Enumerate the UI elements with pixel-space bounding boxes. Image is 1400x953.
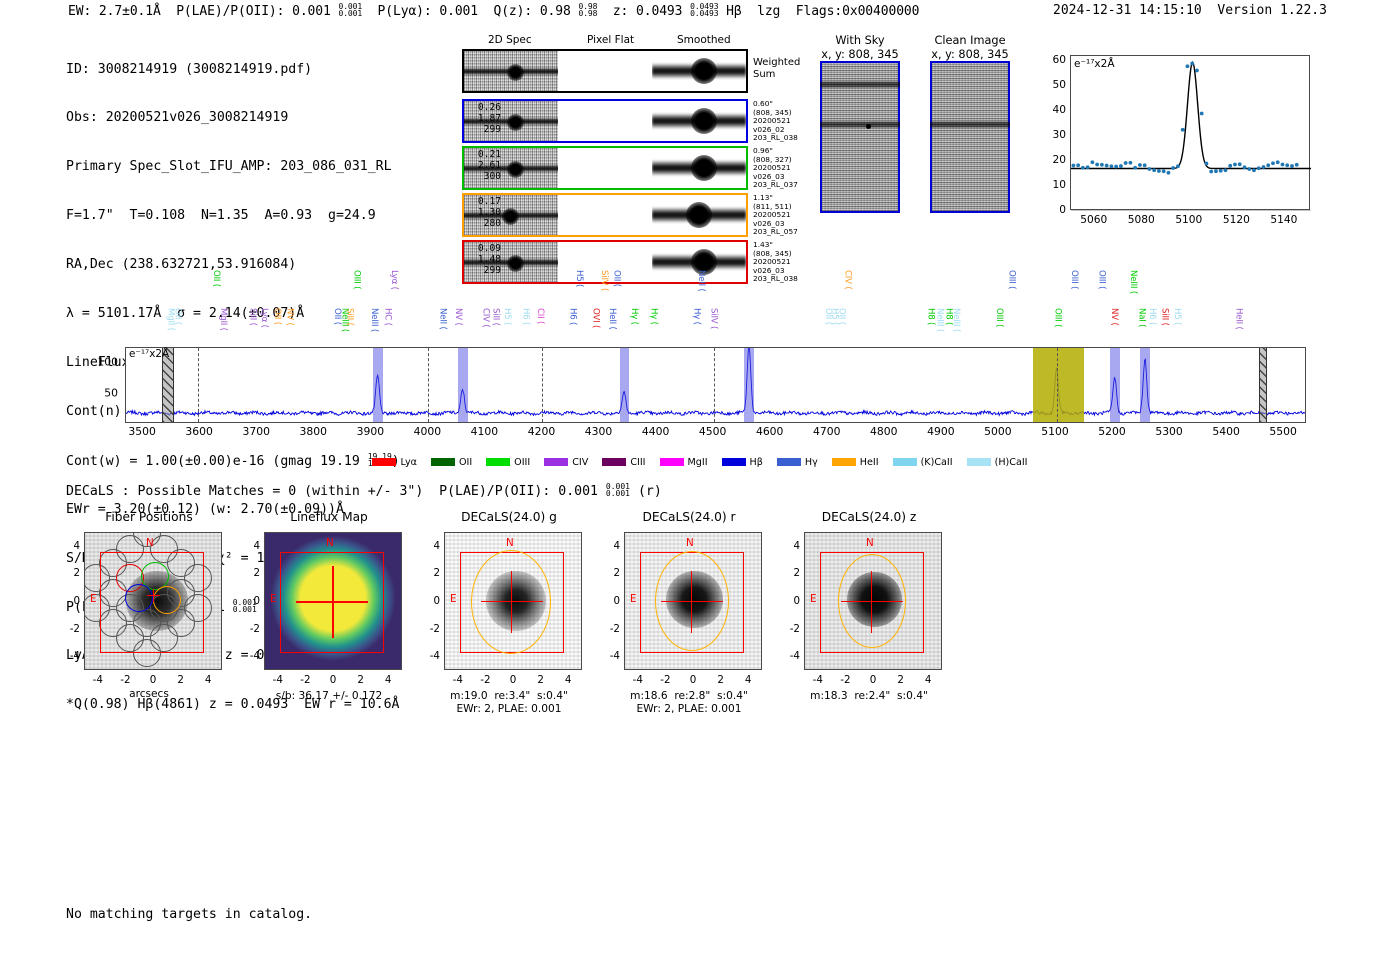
- panel-ytick: -2: [416, 623, 440, 635]
- spectrum-xtick: 5300: [1155, 425, 1182, 438]
- emission-line-label: SiII (: [248, 308, 258, 346]
- east-indicator: E: [810, 593, 817, 605]
- legend-swatch: [722, 458, 746, 466]
- spec2d-row: 0.26 1.87 299 0.60" (808, 345) 20200521 …: [462, 99, 792, 143]
- panel-ytick: 0: [416, 595, 440, 607]
- full-spectrum-chart: MgII (OII (OII (MgII (SiII (Lyα (OII (NV…: [0, 262, 1400, 462]
- spectrum-ytick: 100: [97, 356, 118, 369]
- legend-swatch: [486, 458, 510, 466]
- line-profile-ytick: 40: [1036, 104, 1066, 116]
- line-profile-xtick: 5080: [1128, 214, 1155, 226]
- emission-line-label: H6 (: [520, 308, 530, 346]
- legend-swatch: [602, 458, 626, 466]
- emission-line-label: OII (: [612, 270, 622, 342]
- spec2d-row-meta: 0.96" (808, 327) 20200521 v026_03 203_RL…: [753, 147, 798, 190]
- line-profile-xtick: 5060: [1080, 214, 1107, 226]
- panel-caption: m:18.6 re:2.8" s:0.4" EWr: 2, PLAE: 0.00…: [596, 690, 782, 716]
- spectrum-highlight-band: [620, 348, 630, 422]
- spectrum-xtick: 4400: [642, 425, 669, 438]
- panel-fiber-positions: Fiber Positions: [56, 510, 242, 703]
- cell-smoothed: [652, 148, 746, 188]
- panel-ytick: -4: [776, 650, 800, 662]
- line-profile-svg: [1071, 56, 1311, 211]
- emission-line-label: Hγ (: [649, 308, 659, 346]
- full-spectrum-exponent: e⁻¹⁷x2Å: [129, 348, 169, 360]
- line-profile-ytick: 60: [1036, 54, 1066, 66]
- emission-line-label: SiII (: [1159, 308, 1169, 346]
- cell-pixelflat: [558, 51, 652, 91]
- emission-line-label: NeII (: [438, 308, 448, 346]
- emission-line-label: CII (: [535, 308, 545, 346]
- legend-item: OIII: [486, 457, 530, 468]
- panel-decals-r: DECaLS(24.0) r N E -4-4-2-2002244 m:18.6…: [596, 510, 782, 703]
- legend-item: (H)CaII: [967, 457, 1028, 468]
- panel-axes: N E -4-4-2-2002244 m:18.3 re:2.4" s:0.4": [776, 528, 962, 703]
- east-indicator: E: [270, 593, 277, 605]
- spec2d-column-titles: 2D Spec Pixel Flat Smoothed: [462, 34, 792, 47]
- panel-decals-g: DECaLS(24.0) g N E -4-4-2-2002244 m:19.0…: [416, 510, 602, 703]
- legend-label: Hγ: [805, 457, 818, 468]
- spec2d-montage: 2D Spec Pixel Flat Smoothed Weighted Sum…: [462, 34, 792, 287]
- decals-plae-errors: 0.0010.001: [606, 483, 630, 497]
- emission-line-label: SiII (: [491, 308, 501, 346]
- panel-xtick: 4: [205, 674, 212, 686]
- panel-xtick: -2: [480, 674, 490, 686]
- emission-line-label: NaI (: [1137, 308, 1147, 346]
- legend-swatch: [777, 458, 801, 466]
- panel-xtick: -2: [300, 674, 310, 686]
- emission-line-label: NeIII (: [369, 308, 379, 346]
- header-z-errors: 0.04930.0493: [690, 3, 718, 17]
- panel-xtick: 0: [150, 674, 157, 686]
- panel-xtick: -4: [813, 674, 823, 686]
- full-spectrum-plot-area: [125, 347, 1306, 423]
- panel-caption-line1: m:18.6 re:2.8" s:0.4": [596, 690, 782, 703]
- emission-line-label: OIII (: [351, 270, 361, 342]
- spectrum-xtick: 4000: [414, 425, 441, 438]
- header-qz: Q(z): 0.98: [493, 4, 570, 19]
- cutout-with-sky: With Sky x, y: 808, 345: [820, 34, 900, 213]
- legend-swatch: [544, 458, 568, 466]
- panel-ytick: 0: [236, 595, 260, 607]
- spectrum-highlight-band: [458, 348, 468, 422]
- panel-image: N E: [804, 532, 942, 670]
- emission-line-label: NV (: [1109, 308, 1119, 346]
- cutout-image: [930, 61, 1010, 213]
- legend-item: (K)CaII: [893, 457, 953, 468]
- spectrum-xtick: 4200: [528, 425, 555, 438]
- info-id: ID: 3008214919 (3008214919.pdf): [66, 62, 400, 78]
- emission-line-label: OIII (: [994, 308, 1004, 346]
- header-version: Version 1.22.3: [1217, 3, 1327, 18]
- spectrum-xtick: 3900: [357, 425, 384, 438]
- cell-pixelflat: [558, 148, 652, 188]
- emission-line-label: H5 (: [1172, 308, 1182, 346]
- spectrum-xtick: 3500: [128, 425, 155, 438]
- spectrum-marker-line: [428, 348, 429, 422]
- panel-xtick: 4: [925, 674, 932, 686]
- line-profile-xtick: 5100: [1175, 214, 1202, 226]
- panel-image: N E: [84, 532, 222, 670]
- emission-line-label: NV (: [453, 308, 463, 346]
- legend-label: CIII: [630, 457, 645, 468]
- panel-ytick: -4: [236, 650, 260, 662]
- legend-label: (H)CaII: [995, 457, 1028, 468]
- emission-line-legend: LyαOIIOIIICIVCIIIMgIIHβHγHeII(K)CaII(H)C…: [0, 452, 1400, 471]
- info-primary-spec: Primary Spec_Slot_IFU_AMP: 203_086_031_R…: [66, 159, 400, 175]
- line-profile-chart: e⁻¹⁷x2Å 0102030405060 506050805100512051…: [1036, 53, 1316, 238]
- emission-line-label: NeII (: [696, 270, 706, 342]
- panel-title: Lineflux Map: [236, 510, 422, 524]
- legend-label: Lyα: [400, 457, 416, 468]
- spectrum-masked-band: [1259, 348, 1268, 422]
- legend-swatch: [431, 458, 455, 466]
- panel-ytick: 4: [56, 540, 80, 552]
- legend-label: (K)CaII: [921, 457, 953, 468]
- header-flags: Flags:0x00400000: [796, 4, 920, 19]
- line-profile-ytick: 0: [1036, 204, 1066, 216]
- emission-line-label: CIV (: [480, 308, 490, 346]
- line-profile-ytick: 20: [1036, 154, 1066, 166]
- north-indicator: N: [686, 537, 694, 549]
- legend-label: OIII: [514, 457, 530, 468]
- spec2d-row: 0.17 1.30 280 1.13" (811, 511) 20200521 …: [462, 193, 792, 237]
- spectrum-xtick: 4800: [870, 425, 897, 438]
- panel-image: N E: [444, 532, 582, 670]
- header-plae-errors: 0.0010.001: [338, 3, 362, 17]
- cutout-title: Clean Image: [930, 34, 1010, 48]
- cutout-coords: x, y: 808, 345: [930, 48, 1010, 62]
- line-profile-ytick: 30: [1036, 129, 1066, 141]
- panel-image: N E: [624, 532, 762, 670]
- emission-line-label: Lyα (: [389, 270, 399, 342]
- panel-title: DECaLS(24.0) r: [596, 510, 782, 524]
- cell-2dspec: [464, 51, 558, 91]
- col-title-2dspec: 2D Spec: [488, 34, 532, 46]
- header-summary: EW: 2.7±0.1Å P(LAE)/P(OII): 0.001 0.0010…: [68, 3, 919, 19]
- legend-swatch: [967, 458, 991, 466]
- spectrum-xtick: 3700: [242, 425, 269, 438]
- panel-ytick: -2: [236, 623, 260, 635]
- emission-line-label: OII (: [836, 308, 846, 346]
- legend-label: HeII: [860, 457, 879, 468]
- panel-axes: N E -4-4-2-2002244 arcsecs: [56, 528, 242, 703]
- legend-label: MgII: [688, 457, 708, 468]
- spectrum-xtick: 4100: [471, 425, 498, 438]
- north-indicator: N: [866, 537, 874, 549]
- panel-xtick: 4: [745, 674, 752, 686]
- emission-line-label: MgII (: [218, 308, 228, 346]
- header-classification: lzg: [757, 4, 780, 19]
- decals-header: DECaLS : Possible Matches = 0 (within +/…: [66, 483, 662, 499]
- spectrum-xtick: 4600: [756, 425, 783, 438]
- panel-xtick: -4: [273, 674, 283, 686]
- line-profile-xtick: 5140: [1270, 214, 1297, 226]
- panel-xtick: -2: [120, 674, 130, 686]
- panel-xtick: 2: [717, 674, 724, 686]
- panel-xtick: 2: [357, 674, 364, 686]
- panel-ytick: 0: [56, 595, 80, 607]
- panel-ytick: 2: [596, 567, 620, 579]
- cell-pixelflat: [558, 195, 652, 235]
- spectrum-xtick: 4900: [927, 425, 954, 438]
- spectrum-xtick: 4500: [699, 425, 726, 438]
- spectrum-marker-line: [714, 348, 715, 422]
- header-meta: 2024-12-31 14:15:10 Version 1.22.3: [1053, 3, 1327, 18]
- east-indicator: E: [630, 593, 637, 605]
- panel-ytick: 4: [236, 540, 260, 552]
- legend-label: CIV: [572, 457, 588, 468]
- cell-smoothed: [652, 101, 746, 141]
- cell-smoothed: [652, 195, 746, 235]
- decals-header-text: DECaLS : Possible Matches = 0 (within +/…: [66, 484, 598, 499]
- emission-line-label: OIII (: [1097, 270, 1107, 342]
- spectrum-highlight-band: [373, 348, 383, 422]
- legend-item: CIII: [602, 457, 645, 468]
- emission-line-label: Lyα (: [259, 308, 269, 346]
- emission-line-label: OIII (: [1053, 308, 1063, 346]
- cutout-title: With Sky: [820, 34, 900, 48]
- full-spectrum-svg: [126, 348, 1306, 423]
- panel-ytick: -2: [596, 623, 620, 635]
- spectrum-xtick: 3600: [185, 425, 212, 438]
- col-title-smoothed: Smoothed: [677, 34, 731, 46]
- panel-ytick: -4: [416, 650, 440, 662]
- panel-ytick: -2: [56, 623, 80, 635]
- weighted-sum-label: Weighted Sum: [753, 57, 800, 80]
- line-profile-xtick: 5120: [1223, 214, 1250, 226]
- spectrum-marker-line: [542, 348, 543, 422]
- panel-ytick: 0: [596, 595, 620, 607]
- legend-swatch: [893, 458, 917, 466]
- spec2d-row-box: [462, 49, 748, 93]
- cutout-image: [820, 61, 900, 213]
- cutout-clean-image: Clean Image x, y: 808, 345: [930, 34, 1010, 213]
- emission-line-label: OII (: [172, 308, 182, 346]
- spec2d-row-box: [462, 99, 748, 143]
- cutout-coords: x, y: 808, 345: [820, 48, 900, 62]
- panel-lineflux-map: Lineflux Map N E -4-4-2-2002244 s/b: 36.…: [236, 510, 422, 703]
- emission-line-label: NeIII (: [951, 308, 961, 346]
- panel-caption-line2: EWr: 2, PLAE: 0.001: [416, 703, 602, 716]
- emission-line-label: NV (: [285, 308, 295, 346]
- panel-axes: N E -4-4-2-2002244 s/b: 36.17 +/- 0.172: [236, 528, 422, 703]
- legend-item: HeII: [832, 457, 879, 468]
- footer-note: No matching targets in catalog. Row inte…: [66, 872, 312, 953]
- panel-image: N E: [264, 532, 402, 670]
- east-indicator: E: [450, 593, 457, 605]
- full-spectrum-yticks: 50100: [78, 347, 122, 423]
- full-spectrum-xticks: 3500360037003800390040004100420043004400…: [125, 425, 1306, 441]
- spectrum-marker-line: [198, 348, 199, 422]
- legend-item: Hβ: [722, 457, 763, 468]
- panel-xtick: 2: [897, 674, 904, 686]
- col-title-pixelflat: Pixel Flat: [587, 34, 634, 46]
- panel-xtick: 0: [510, 674, 517, 686]
- footer-line-1: No matching targets in catalog.: [66, 906, 312, 923]
- panel-caption-line1: m:18.3 re:2.4" s:0.4": [776, 690, 962, 703]
- legend-item: Lyα: [372, 457, 416, 468]
- legend-swatch: [372, 458, 396, 466]
- panel-xtick: 0: [330, 674, 337, 686]
- emission-line-label: HeII (: [1234, 308, 1244, 346]
- spectrum-xtick: 4700: [813, 425, 840, 438]
- header-z: z: 0.0493: [613, 4, 683, 19]
- spectrum-highlight-band: [744, 348, 754, 422]
- emission-line-label: Hγ (: [629, 308, 639, 346]
- spectrum-highlight-band: [1110, 348, 1120, 422]
- spec2d-row-box: [462, 193, 748, 237]
- emission-line-label: NeIII (: [1128, 270, 1138, 342]
- spec2d-row-meta: 0.60" (808, 345) 20200521 v026_02 203_RL…: [753, 100, 798, 143]
- emission-line-label: H6 (: [1147, 308, 1157, 346]
- spec2d-row-metrics: 0.26 1.87 299: [478, 102, 501, 136]
- spectrum-ytick: 50: [104, 386, 118, 399]
- panel-xtick: -2: [840, 674, 850, 686]
- panel-xtick: 4: [385, 674, 392, 686]
- header-datetime: 2024-12-31 14:15:10: [1053, 3, 1202, 18]
- line-profile-exponent: e⁻¹⁷x2Å: [1074, 58, 1115, 70]
- panel-ytick: -2: [776, 623, 800, 635]
- report-page: EW: 2.7±0.1Å P(LAE)/P(OII): 0.001 0.0010…: [0, 0, 1400, 953]
- emission-line-label: SiIV (: [709, 308, 719, 346]
- red-box: [100, 552, 204, 653]
- legend-swatch: [660, 458, 684, 466]
- panel-ytick: 4: [416, 540, 440, 552]
- header-ew: EW: 2.7±0.1Å: [68, 4, 161, 19]
- line-profile-plot-area: [1070, 55, 1310, 210]
- line-profile-ytick: 50: [1036, 79, 1066, 91]
- panel-caption: s/b: 36.17 +/- 0.172: [236, 690, 422, 703]
- legend-item: MgII: [660, 457, 708, 468]
- panel-ytick: 2: [776, 567, 800, 579]
- spectrum-highlight-band: [1033, 348, 1084, 422]
- panel-caption-line2: EWr: 2, PLAE: 0.001: [596, 703, 782, 716]
- spectrum-xtick: 5100: [1041, 425, 1068, 438]
- info-obs: Obs: 20200521v026_3008214919: [66, 110, 400, 126]
- panel-xtick: 2: [537, 674, 544, 686]
- panel-axes: N E -4-4-2-2002244 m:19.0 re:3.4" s:0.4"…: [416, 528, 602, 703]
- east-indicator: E: [90, 593, 97, 605]
- spectrum-xtick: 5500: [1269, 425, 1296, 438]
- legend-swatch: [832, 458, 856, 466]
- panel-ytick: -4: [596, 650, 620, 662]
- panel-caption-line1: m:19.0 re:3.4" s:0.4": [416, 690, 602, 703]
- emission-line-label: OIII (: [1006, 270, 1016, 342]
- spectrum-xtick: 4300: [585, 425, 612, 438]
- panel-xtick: 0: [870, 674, 877, 686]
- decals-header-tail: (r): [630, 484, 662, 499]
- emission-line-label: OII (: [272, 308, 282, 346]
- panel-xtick: 2: [177, 674, 184, 686]
- header-line-id: Hβ: [726, 4, 741, 19]
- spectrum-xtick: 5200: [1098, 425, 1125, 438]
- panel-ytick: 0: [776, 595, 800, 607]
- panel-xlabel: arcsecs: [56, 688, 242, 701]
- legend-item: OII: [431, 457, 472, 468]
- info-seeing: F=1.7" T=0.108 N=1.35 A=0.93 g=24.9: [66, 208, 400, 224]
- panel-xtick: -2: [660, 674, 670, 686]
- spec2d-row-weighted-sum: Weighted Sum: [462, 49, 792, 93]
- north-indicator: N: [506, 537, 514, 549]
- north-indicator: N: [146, 537, 154, 549]
- emission-line-label: H5 (: [574, 270, 584, 342]
- emission-line-label: OIII (: [1069, 270, 1079, 342]
- legend-item: CIV: [544, 457, 588, 468]
- legend-item: Hγ: [777, 457, 818, 468]
- spectrum-xtick: 5400: [1212, 425, 1239, 438]
- spectrum-marker-line: [1057, 348, 1058, 422]
- panel-title: DECaLS(24.0) z: [776, 510, 962, 524]
- header-plya: P(Lyα): 0.001: [378, 4, 478, 19]
- panel-decals-z: DECaLS(24.0) z N E -4-4-2-2002244 m:18.3…: [776, 510, 962, 703]
- north-indicator: N: [326, 537, 334, 549]
- spectrum-xtick: 5000: [984, 425, 1011, 438]
- spectrum-highlight-band: [1140, 348, 1150, 422]
- panel-axes: N E -4-4-2-2002244 m:18.6 re:2.8" s:0.4"…: [596, 528, 782, 703]
- panel-xtick: -4: [633, 674, 643, 686]
- panel-xtick: 4: [565, 674, 572, 686]
- panel-xtick: -4: [453, 674, 463, 686]
- spec2d-row: 0.21 2.61 300 0.96" (808, 327) 20200521 …: [462, 146, 792, 190]
- legend-label: Hβ: [750, 457, 763, 468]
- panel-ytick: 2: [416, 567, 440, 579]
- panel-ytick: 2: [56, 567, 80, 579]
- spectrum-xtick: 3800: [300, 425, 327, 438]
- header-plae-label: P(LAE)/P(OII): 0.001: [176, 4, 331, 19]
- spec2d-row-meta: 1.13" (811, 511) 20200521 v026_03 203_RL…: [753, 194, 798, 237]
- panel-caption: m:19.0 re:3.4" s:0.4" EWr: 2, PLAE: 0.00…: [416, 690, 602, 716]
- spec2d-row-box: [462, 146, 748, 190]
- cell-smoothed: [652, 51, 746, 91]
- panel-xtick: -4: [93, 674, 103, 686]
- panel-ytick: 2: [236, 567, 260, 579]
- panel-xtick: 0: [690, 674, 697, 686]
- panel-title: DECaLS(24.0) g: [416, 510, 602, 524]
- panel-ytick: 4: [776, 540, 800, 552]
- spec2d-row-metrics: 0.21 2.61 300: [478, 149, 501, 183]
- header-qz-errors: 0.980.98: [578, 3, 597, 17]
- panel-ytick: 4: [596, 540, 620, 552]
- panel-title: Fiber Positions: [56, 510, 242, 524]
- legend-label: OII: [459, 457, 472, 468]
- emission-line-label: H5 (: [502, 308, 512, 346]
- panel-caption-line1: s/b: 36.17 +/- 0.172: [236, 690, 422, 703]
- line-profile-ytick: 10: [1036, 179, 1066, 191]
- cell-pixelflat: [558, 101, 652, 141]
- spec2d-row-metrics: 0.17 1.30 280: [478, 196, 501, 230]
- panel-caption: m:18.3 re:2.4" s:0.4": [776, 690, 962, 703]
- panel-ytick: -4: [56, 650, 80, 662]
